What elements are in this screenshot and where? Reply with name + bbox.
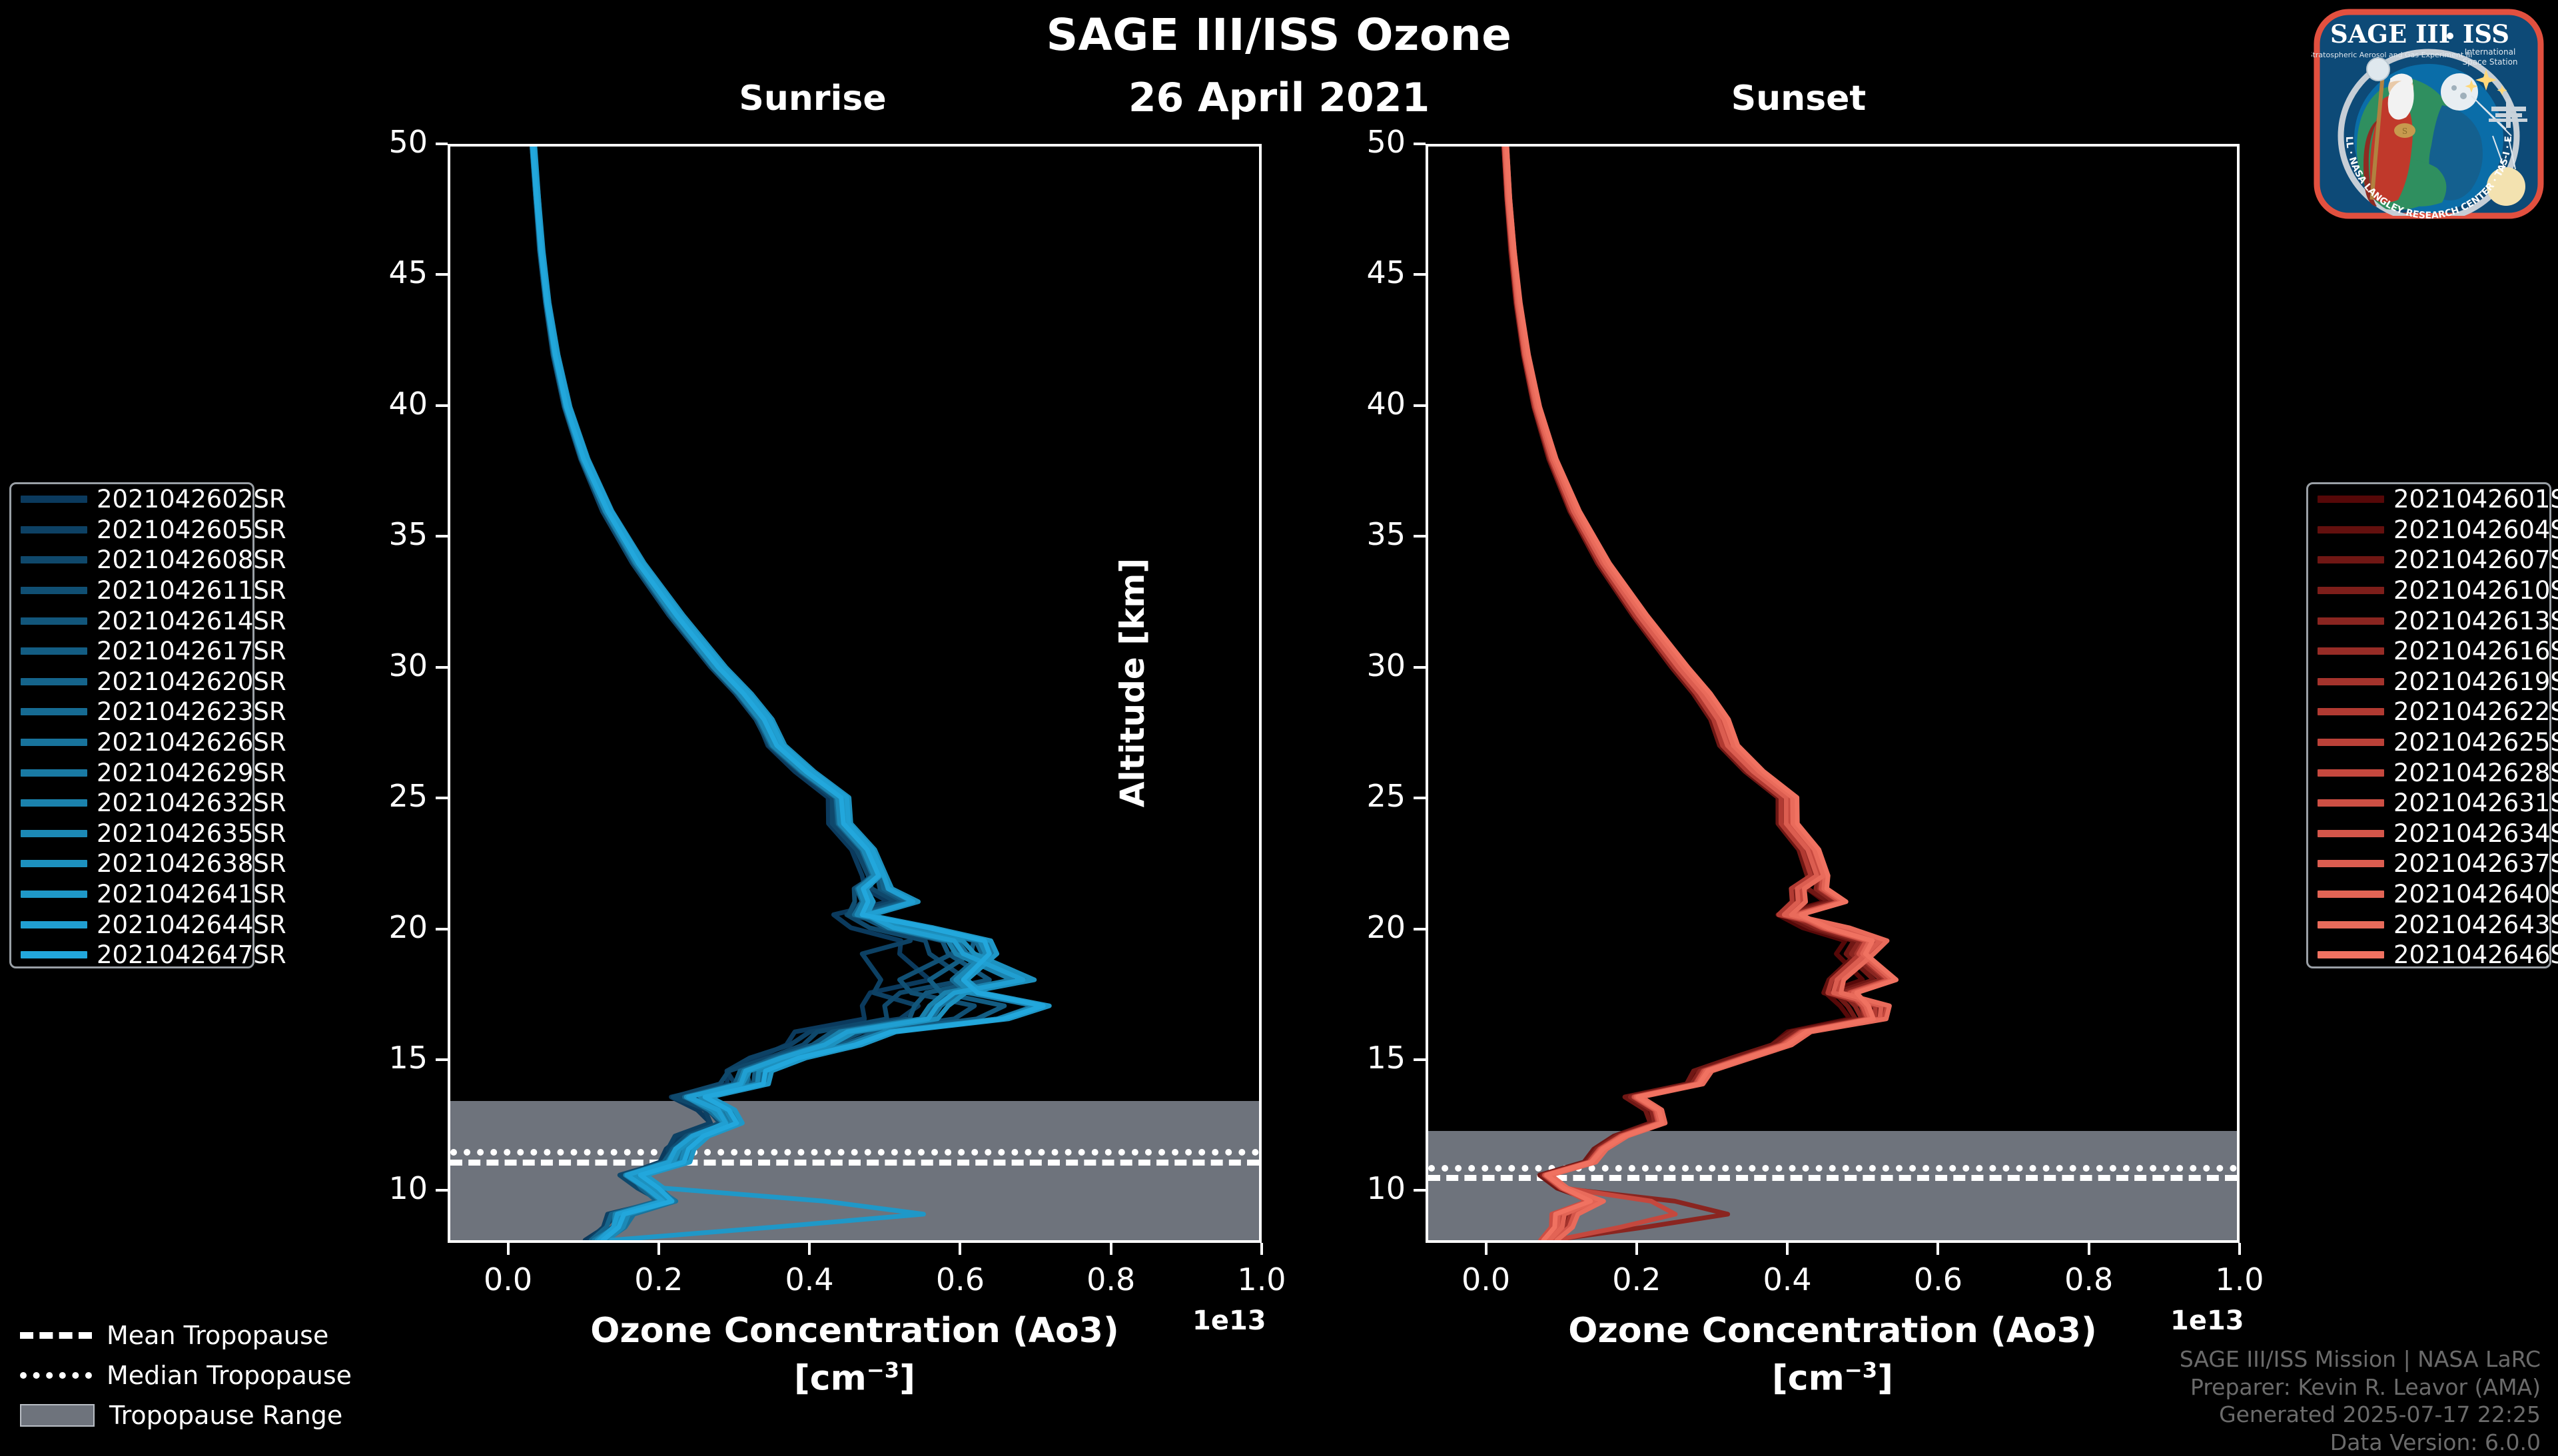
legend-color-swatch bbox=[2318, 860, 2384, 867]
legend-color-swatch bbox=[2318, 647, 2384, 655]
legend-color-swatch bbox=[21, 617, 87, 625]
x-axis-offset-right: 1e13 bbox=[2170, 1305, 2244, 1336]
y-tick-label-left-25: 25 bbox=[341, 778, 428, 814]
legend-color-swatch bbox=[21, 921, 87, 928]
legend-color-swatch bbox=[21, 496, 87, 503]
legend-item[interactable]: 2021042613SS bbox=[2308, 605, 2549, 636]
left-panel-title: Sunrise bbox=[600, 79, 1026, 119]
x-tick-label-right-0.8: 0.8 bbox=[2039, 1262, 2139, 1297]
y-tick-label-left-20: 20 bbox=[341, 909, 428, 945]
legend-item[interactable]: 2021042623SR bbox=[11, 697, 252, 727]
legend-color-swatch bbox=[2318, 496, 2384, 503]
legend-item[interactable]: 2021042631SS bbox=[2308, 788, 2549, 819]
legend-item[interactable]: 2021042644SR bbox=[11, 909, 252, 940]
legend-item-label: 2021042608SR bbox=[97, 546, 286, 574]
legend-item-label: 2021042637SS bbox=[2393, 849, 2558, 878]
legend-item[interactable]: 2021042602SR bbox=[11, 484, 252, 515]
legend-item[interactable]: 2021042640SS bbox=[2308, 879, 2549, 910]
x-tick-mark-right-1.0 bbox=[2238, 1243, 2241, 1255]
series-line bbox=[532, 147, 1039, 1240]
sunset-series-layer bbox=[1428, 147, 2237, 1240]
legend-item-label: 2021042617SR bbox=[97, 637, 286, 665]
x-tick-label-right-1.0: 1.0 bbox=[2190, 1262, 2290, 1297]
credits-line-version: Data Version: 6.0.0 bbox=[2180, 1429, 2541, 1456]
legend-item-label: 2021042623SR bbox=[97, 697, 286, 726]
y-tick-mark-right-30 bbox=[1414, 666, 1426, 669]
legend-item-label: 2021042626SR bbox=[97, 728, 286, 757]
x-axis-label-right: Ozone Concentration (Ao3) bbox=[1433, 1311, 2232, 1351]
x-tick-mark-left-1.0 bbox=[1260, 1243, 1263, 1255]
legend-item[interactable]: 2021042637SS bbox=[2308, 849, 2549, 879]
y-tick-label-right-45: 45 bbox=[1319, 254, 1406, 290]
legend-item-label: 2021042620SR bbox=[97, 667, 286, 696]
legend-item[interactable]: 2021042641SR bbox=[11, 879, 252, 910]
legend-item-label: 2021042646SS bbox=[2393, 940, 2558, 969]
x-tick-mark-left-0.6 bbox=[959, 1243, 961, 1255]
credits-line-generated: Generated 2025-07-17 22:25 bbox=[2180, 1401, 2541, 1429]
legend-item-label: 2021042622SS bbox=[2393, 697, 2558, 726]
legend-item[interactable]: 2021042610SS bbox=[2308, 575, 2549, 606]
legend-item[interactable]: 2021042643SS bbox=[2308, 909, 2549, 940]
x-tick-label-left-0.6: 0.6 bbox=[910, 1262, 1010, 1297]
y-tick-label-right-30: 30 bbox=[1319, 647, 1406, 683]
legend-color-swatch bbox=[2318, 617, 2384, 625]
credits-line-mission: SAGE III/ISS Mission | NASA LaRC bbox=[2180, 1345, 2541, 1373]
legend-item[interactable]: 2021042601SS bbox=[2308, 484, 2549, 515]
legend-item[interactable]: 2021042608SR bbox=[11, 545, 252, 575]
legend-color-swatch bbox=[2318, 799, 2384, 807]
x-axis-label-left: Ozone Concentration (Ao3) bbox=[455, 1311, 1254, 1351]
y-tick-label-right-40: 40 bbox=[1319, 386, 1406, 422]
legend-item[interactable]: 2021042632SR bbox=[11, 788, 252, 819]
y-tick-mark-left-35 bbox=[436, 535, 448, 538]
series-line bbox=[534, 147, 1023, 1240]
legend-color-swatch bbox=[2318, 708, 2384, 715]
x-tick-label-right-0.2: 0.2 bbox=[1587, 1262, 1687, 1297]
series-line bbox=[534, 147, 1020, 1240]
legend-item-label: 2021042607SS bbox=[2393, 546, 2558, 574]
legend-item[interactable]: 2021042638SR bbox=[11, 849, 252, 879]
x-axis-units-left: [cm−3] bbox=[455, 1357, 1254, 1398]
series-line bbox=[533, 147, 1046, 1240]
legend-item-label: 2021042631SS bbox=[2393, 789, 2558, 817]
legend-item[interactable]: 2021042625SS bbox=[2308, 727, 2549, 758]
legend-item-label: 2021042605SR bbox=[97, 516, 286, 544]
legend-color-swatch bbox=[2318, 769, 2384, 777]
legend-item-median-tropopause: Median Tropopause bbox=[20, 1355, 393, 1395]
legend-color-swatch bbox=[2318, 830, 2384, 837]
y-tick-mark-left-25 bbox=[436, 797, 448, 799]
sage-iii-iss-mission-patch-logo: S SAGE III ISS Stratospheric Aerosol and… bbox=[2312, 5, 2546, 220]
y-tick-label-left-15: 15 bbox=[341, 1040, 428, 1076]
x-tick-mark-right-0.4 bbox=[1786, 1243, 1789, 1255]
y-tick-mark-left-45 bbox=[436, 273, 448, 276]
legend-item-label: 2021042602SR bbox=[97, 485, 286, 514]
sunset-plot-area bbox=[1426, 144, 2240, 1243]
y-axis-label-right: Altitude [km] bbox=[1113, 549, 1152, 816]
legend-color-swatch bbox=[21, 891, 87, 898]
y-tick-label-right-20: 20 bbox=[1319, 909, 1406, 945]
x-tick-label-left-0.0: 0.0 bbox=[458, 1262, 558, 1297]
x-tick-mark-left-0.8 bbox=[1110, 1243, 1112, 1255]
y-tick-mark-right-40 bbox=[1414, 404, 1426, 407]
credits-block: SAGE III/ISS Mission | NASA LaRC Prepare… bbox=[2180, 1345, 2541, 1456]
legend-color-swatch bbox=[21, 769, 87, 777]
legend-item-label: 2021042604SS bbox=[2393, 516, 2558, 544]
credits-line-preparer: Preparer: Kevin R. Leavor (AMA) bbox=[2180, 1373, 2541, 1401]
legend-color-swatch bbox=[2318, 951, 2384, 958]
patch-subtitle-right-1: International bbox=[2465, 47, 2516, 57]
mean-tropopause-label: Mean Tropopause bbox=[107, 1321, 328, 1350]
series-line bbox=[1504, 147, 1874, 1240]
y-tick-mark-right-10 bbox=[1414, 1189, 1426, 1192]
legend-item[interactable]: 2021042634SS bbox=[2308, 819, 2549, 849]
legend-item-label: 2021042625SS bbox=[2393, 728, 2558, 757]
series-line bbox=[533, 147, 1050, 1240]
y-tick-label-left-35: 35 bbox=[341, 516, 428, 552]
legend-item[interactable]: 2021042611SR bbox=[11, 575, 252, 606]
legend-color-swatch bbox=[21, 799, 87, 807]
legend-item[interactable]: 2021042604SS bbox=[2308, 515, 2549, 546]
legend-item[interactable]: 2021042646SS bbox=[2308, 940, 2549, 970]
legend-item-label: 2021042638SR bbox=[97, 849, 286, 878]
legend-item[interactable]: 2021042607SS bbox=[2308, 545, 2549, 575]
x-tick-mark-right-0.2 bbox=[1635, 1243, 1638, 1255]
median-tropopause-label: Median Tropopause bbox=[107, 1361, 352, 1390]
x-tick-mark-right-0.6 bbox=[1936, 1243, 1939, 1255]
legend-item-label: 2021042643SS bbox=[2393, 910, 2558, 939]
y-tick-label-left-30: 30 bbox=[341, 647, 428, 683]
x-tick-label-right-0.0: 0.0 bbox=[1436, 1262, 1536, 1297]
legend-color-swatch bbox=[21, 951, 87, 958]
x-tick-mark-right-0.8 bbox=[2088, 1243, 2090, 1255]
legend-item[interactable]: 2021042622SS bbox=[2308, 697, 2549, 727]
y-tick-mark-right-25 bbox=[1414, 797, 1426, 799]
legend-item-label: 2021042619SS bbox=[2393, 667, 2558, 696]
legend-item-label: 2021042632SR bbox=[97, 789, 286, 817]
legend-item-label: 2021042611SR bbox=[97, 576, 286, 605]
legend-item-label: 2021042610SS bbox=[2393, 576, 2558, 605]
y-tick-mark-left-20 bbox=[436, 928, 448, 930]
x-tick-label-left-0.8: 0.8 bbox=[1061, 1262, 1161, 1297]
series-line bbox=[533, 147, 1044, 1240]
y-tick-label-right-10: 10 bbox=[1319, 1170, 1406, 1206]
x-tick-mark-left-0.4 bbox=[808, 1243, 811, 1255]
y-tick-label-left-45: 45 bbox=[341, 254, 428, 290]
tropopause-range-swatch bbox=[20, 1404, 95, 1427]
series-line bbox=[535, 147, 1035, 1240]
legend-color-swatch bbox=[2318, 891, 2384, 898]
legend-item[interactable]: 2021042629SR bbox=[11, 757, 252, 788]
patch-subtitle-right-2: Space Station bbox=[2462, 57, 2517, 67]
x-tick-mark-right-0.0 bbox=[1485, 1243, 1488, 1255]
y-tick-mark-right-20 bbox=[1414, 928, 1426, 930]
x-tick-label-left-1.0: 1.0 bbox=[1212, 1262, 1312, 1297]
legend-item-label: 2021042616SS bbox=[2393, 637, 2558, 665]
patch-title-iss: ISS bbox=[2463, 19, 2509, 49]
legend-color-swatch bbox=[21, 678, 87, 685]
legend-item[interactable]: 2021042626SR bbox=[11, 727, 252, 758]
tropopause-legend: Mean Tropopause Median Tropopause Tropop… bbox=[20, 1315, 393, 1435]
legend-item-tropopause-range: Tropopause Range bbox=[20, 1395, 393, 1435]
y-tick-mark-left-10 bbox=[436, 1189, 448, 1192]
legend-item-label: 2021042628SS bbox=[2393, 759, 2558, 787]
legend-item[interactable]: 2021042605SR bbox=[11, 515, 252, 546]
y-tick-label-right-15: 15 bbox=[1319, 1040, 1406, 1076]
sunset-legend[interactable]: 2021042601SS2021042604SS2021042607SS2021… bbox=[2306, 482, 2551, 968]
x-axis-offset-left: 1e13 bbox=[1192, 1305, 1266, 1336]
y-tick-mark-left-40 bbox=[436, 404, 448, 407]
legend-color-swatch bbox=[2318, 739, 2384, 746]
x-tick-mark-left-0.2 bbox=[657, 1243, 660, 1255]
legend-item[interactable]: 2021042616SS bbox=[2308, 636, 2549, 667]
legend-item-label: 2021042614SR bbox=[97, 607, 286, 635]
y-tick-mark-right-35 bbox=[1414, 535, 1426, 538]
legend-color-swatch bbox=[2318, 556, 2384, 563]
legend-item-label: 2021042601SS bbox=[2393, 485, 2558, 514]
median-tropopause-swatch bbox=[20, 1372, 92, 1379]
legend-item[interactable]: 2021042614SR bbox=[11, 605, 252, 636]
y-tick-label-left-40: 40 bbox=[341, 386, 428, 422]
legend-color-swatch bbox=[21, 587, 87, 594]
y-tick-label-right-25: 25 bbox=[1319, 778, 1406, 814]
legend-color-swatch bbox=[21, 860, 87, 867]
y-tick-mark-left-30 bbox=[436, 666, 448, 669]
sunrise-legend[interactable]: 2021042602SR2021042605SR2021042608SR2021… bbox=[9, 482, 254, 968]
x-tick-mark-left-0.0 bbox=[507, 1243, 510, 1255]
legend-color-swatch bbox=[2318, 921, 2384, 928]
legend-color-swatch bbox=[2318, 678, 2384, 685]
tropopause-range-label: Tropopause Range bbox=[109, 1401, 342, 1430]
x-tick-label-right-0.6: 0.6 bbox=[1888, 1262, 1988, 1297]
legend-color-swatch bbox=[2318, 526, 2384, 534]
right-panel-title: Sunset bbox=[1585, 79, 2012, 119]
legend-color-swatch bbox=[21, 556, 87, 563]
y-tick-mark-left-50 bbox=[436, 143, 448, 145]
legend-item-label: 2021042635SR bbox=[97, 819, 286, 848]
legend-color-swatch bbox=[2318, 587, 2384, 594]
x-tick-label-right-0.4: 0.4 bbox=[1737, 1262, 1837, 1297]
y-tick-mark-right-50 bbox=[1414, 143, 1426, 145]
legend-color-swatch bbox=[21, 739, 87, 746]
series-line bbox=[1505, 147, 1863, 1240]
patch-subtitle-left: Stratospheric Aerosol and Gas Experiment… bbox=[2312, 51, 2472, 59]
legend-color-swatch bbox=[21, 708, 87, 715]
legend-item-label: 2021042647SR bbox=[97, 940, 286, 969]
svg-text:S: S bbox=[2402, 127, 2407, 136]
x-tick-label-left-0.4: 0.4 bbox=[759, 1262, 859, 1297]
y-tick-label-left-10: 10 bbox=[341, 1170, 428, 1206]
x-tick-label-left-0.2: 0.2 bbox=[609, 1262, 709, 1297]
chart-canvas: SAGE III/ISS Ozone 26 April 2021 Sunrise… bbox=[0, 0, 2558, 1439]
legend-color-swatch bbox=[21, 830, 87, 837]
x-axis-units-right: [cm−3] bbox=[1433, 1357, 2232, 1398]
legend-item-label: 2021042634SS bbox=[2393, 819, 2558, 848]
legend-item-mean-tropopause: Mean Tropopause bbox=[20, 1315, 393, 1355]
page-title: SAGE III/ISS Ozone bbox=[693, 9, 1865, 61]
legend-item-label: 2021042613SS bbox=[2393, 607, 2558, 635]
legend-item[interactable]: 2021042635SR bbox=[11, 819, 252, 849]
y-tick-mark-left-15 bbox=[436, 1058, 448, 1061]
legend-item-label: 2021042641SR bbox=[97, 880, 286, 909]
patch-title-sage: SAGE III bbox=[2330, 19, 2450, 49]
y-tick-mark-right-15 bbox=[1414, 1058, 1426, 1061]
legend-item[interactable]: 2021042647SR bbox=[11, 940, 252, 970]
legend-color-swatch bbox=[21, 647, 87, 655]
y-tick-label-right-50: 50 bbox=[1319, 124, 1406, 160]
legend-item[interactable]: 2021042620SR bbox=[11, 667, 252, 697]
series-line bbox=[534, 147, 1027, 1240]
mean-tropopause-swatch bbox=[20, 1332, 92, 1339]
series-line bbox=[532, 147, 1035, 1240]
legend-item-label: 2021042629SR bbox=[97, 759, 286, 787]
legend-item-label: 2021042644SR bbox=[97, 910, 286, 939]
y-tick-mark-right-45 bbox=[1414, 273, 1426, 276]
legend-item-label: 2021042640SS bbox=[2393, 880, 2558, 909]
legend-item[interactable]: 2021042628SS bbox=[2308, 757, 2549, 788]
legend-item[interactable]: 2021042617SR bbox=[11, 636, 252, 667]
y-tick-label-left-50: 50 bbox=[341, 124, 428, 160]
legend-item[interactable]: 2021042619SS bbox=[2308, 667, 2549, 697]
legend-color-swatch bbox=[21, 526, 87, 534]
y-tick-label-right-35: 35 bbox=[1319, 516, 1406, 552]
